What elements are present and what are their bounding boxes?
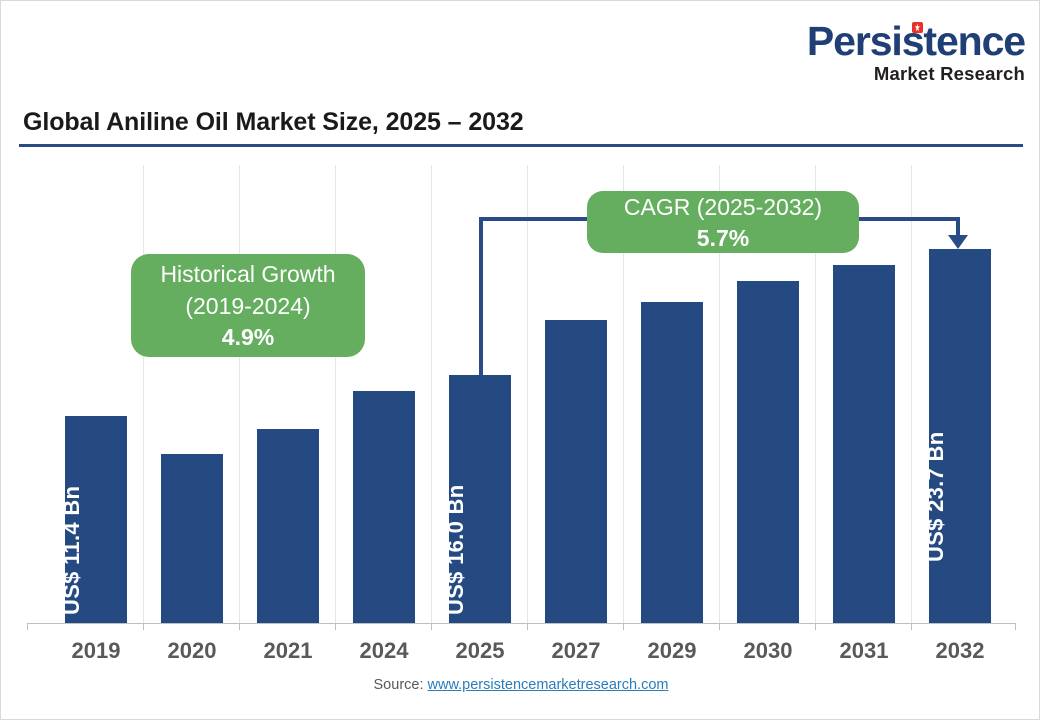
historical-growth-line2: (2019-2024)	[185, 290, 310, 322]
bar-2030[interactable]	[737, 281, 799, 623]
gridline	[911, 165, 912, 623]
axis-tick	[527, 623, 528, 630]
source-link[interactable]: www.persistencemarketresearch.com	[428, 677, 669, 693]
cagr-connector-left-vertical	[479, 217, 483, 377]
axis-tick	[239, 623, 240, 630]
chart-canvas: Persistence Market Research Global Anili…	[0, 0, 1040, 720]
bar-2031[interactable]	[833, 265, 895, 623]
cagr-connector-right-horizontal	[855, 217, 960, 221]
axis-tick	[623, 623, 624, 630]
axis-tick	[143, 623, 144, 630]
arrow-down-icon	[948, 235, 968, 249]
bar-chart-plot-area: US$ 11.4 Bn US$ 16.0 Bn US$ 23.7 Bn 2019…	[1, 1, 1040, 721]
axis-tick	[911, 623, 912, 630]
axis-tick	[431, 623, 432, 630]
bar-value-label-2019: US$ 11.4 Bn	[59, 486, 85, 615]
historical-growth-value: 4.9%	[222, 322, 274, 353]
cagr-connector-left-horizontal	[479, 217, 591, 221]
bar-value-label-2025: US$ 16.0 Bn	[443, 485, 469, 615]
axis-tick	[1015, 623, 1016, 630]
axis-tick	[27, 623, 28, 630]
axis-tick	[335, 623, 336, 630]
cagr-callout: CAGR (2025-2032) 5.7%	[587, 191, 859, 253]
gridline	[335, 165, 336, 623]
axis-tick	[719, 623, 720, 630]
bar-2021[interactable]	[257, 429, 319, 623]
bar-2029[interactable]	[641, 302, 703, 623]
source-label: Source:	[374, 677, 424, 693]
cagr-line1: CAGR (2025-2032)	[624, 191, 822, 223]
historical-growth-line1: Historical Growth	[160, 258, 335, 290]
cagr-value: 5.7%	[697, 223, 749, 254]
gridline	[143, 165, 144, 623]
axis-tick	[815, 623, 816, 630]
historical-growth-callout: Historical Growth (2019-2024) 4.9%	[131, 254, 365, 357]
gridline	[239, 165, 240, 623]
bar-2027[interactable]	[545, 320, 607, 623]
x-axis-line	[27, 623, 1016, 624]
bar-2024[interactable]	[353, 391, 415, 623]
bar-value-label-2032: US$ 23.7 Bn	[923, 432, 949, 562]
x-axis-label-2032: 2032	[900, 638, 1020, 664]
gridline	[431, 165, 432, 623]
bar-2020[interactable]	[161, 454, 223, 623]
source-note: Source: www.persistencemarketresearch.co…	[1, 677, 1040, 693]
gridline	[527, 165, 528, 623]
